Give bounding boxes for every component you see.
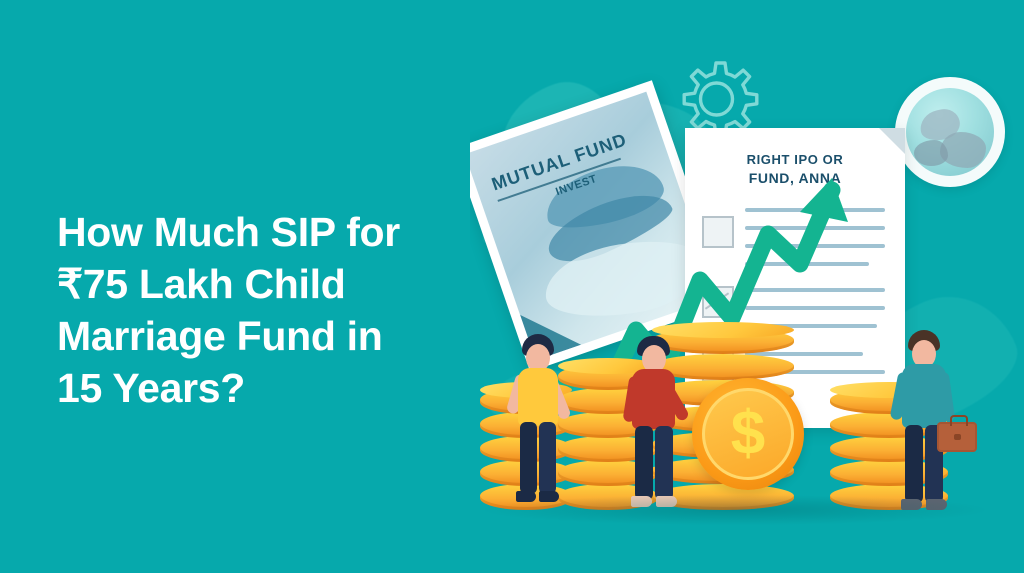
headline-line-3: Marriage Fund in: [57, 310, 477, 362]
headline-line-2: ₹75 Lakh Child: [57, 258, 477, 310]
person-man-red: [615, 336, 695, 516]
briefcase-clasp: [954, 434, 961, 440]
banner-canvas: How Much SIP for ₹75 Lakh Child Marriage…: [0, 0, 1024, 573]
briefcase-handle: [950, 415, 968, 426]
globe-sphere: [906, 88, 994, 176]
leg: [539, 422, 556, 494]
leg: [905, 425, 923, 503]
ground-shadow: [485, 495, 985, 525]
headline-line-4: 15 Years?: [57, 362, 477, 414]
person-woman-yellow: [500, 334, 580, 514]
globe-continent: [914, 140, 948, 166]
torso-top: [632, 369, 675, 429]
page-title: How Much SIP for ₹75 Lakh Child Marriage…: [57, 206, 477, 414]
leg: [635, 426, 653, 500]
person-man-teal: [882, 330, 972, 520]
leg: [520, 422, 537, 494]
leg: [655, 426, 673, 500]
illustration-artwork: MUTUAL FUND INVEST RIGHT IPO OR FUND, AN…: [470, 0, 1024, 573]
torso-top: [902, 364, 946, 428]
torso-top: [518, 368, 558, 426]
dollar-coin-icon: $: [692, 378, 804, 490]
headline-line-1: How Much SIP for: [57, 206, 477, 258]
briefcase-icon: [937, 422, 977, 452]
globe-badge-icon: [895, 77, 1005, 187]
dollar-sign: $: [692, 378, 804, 490]
